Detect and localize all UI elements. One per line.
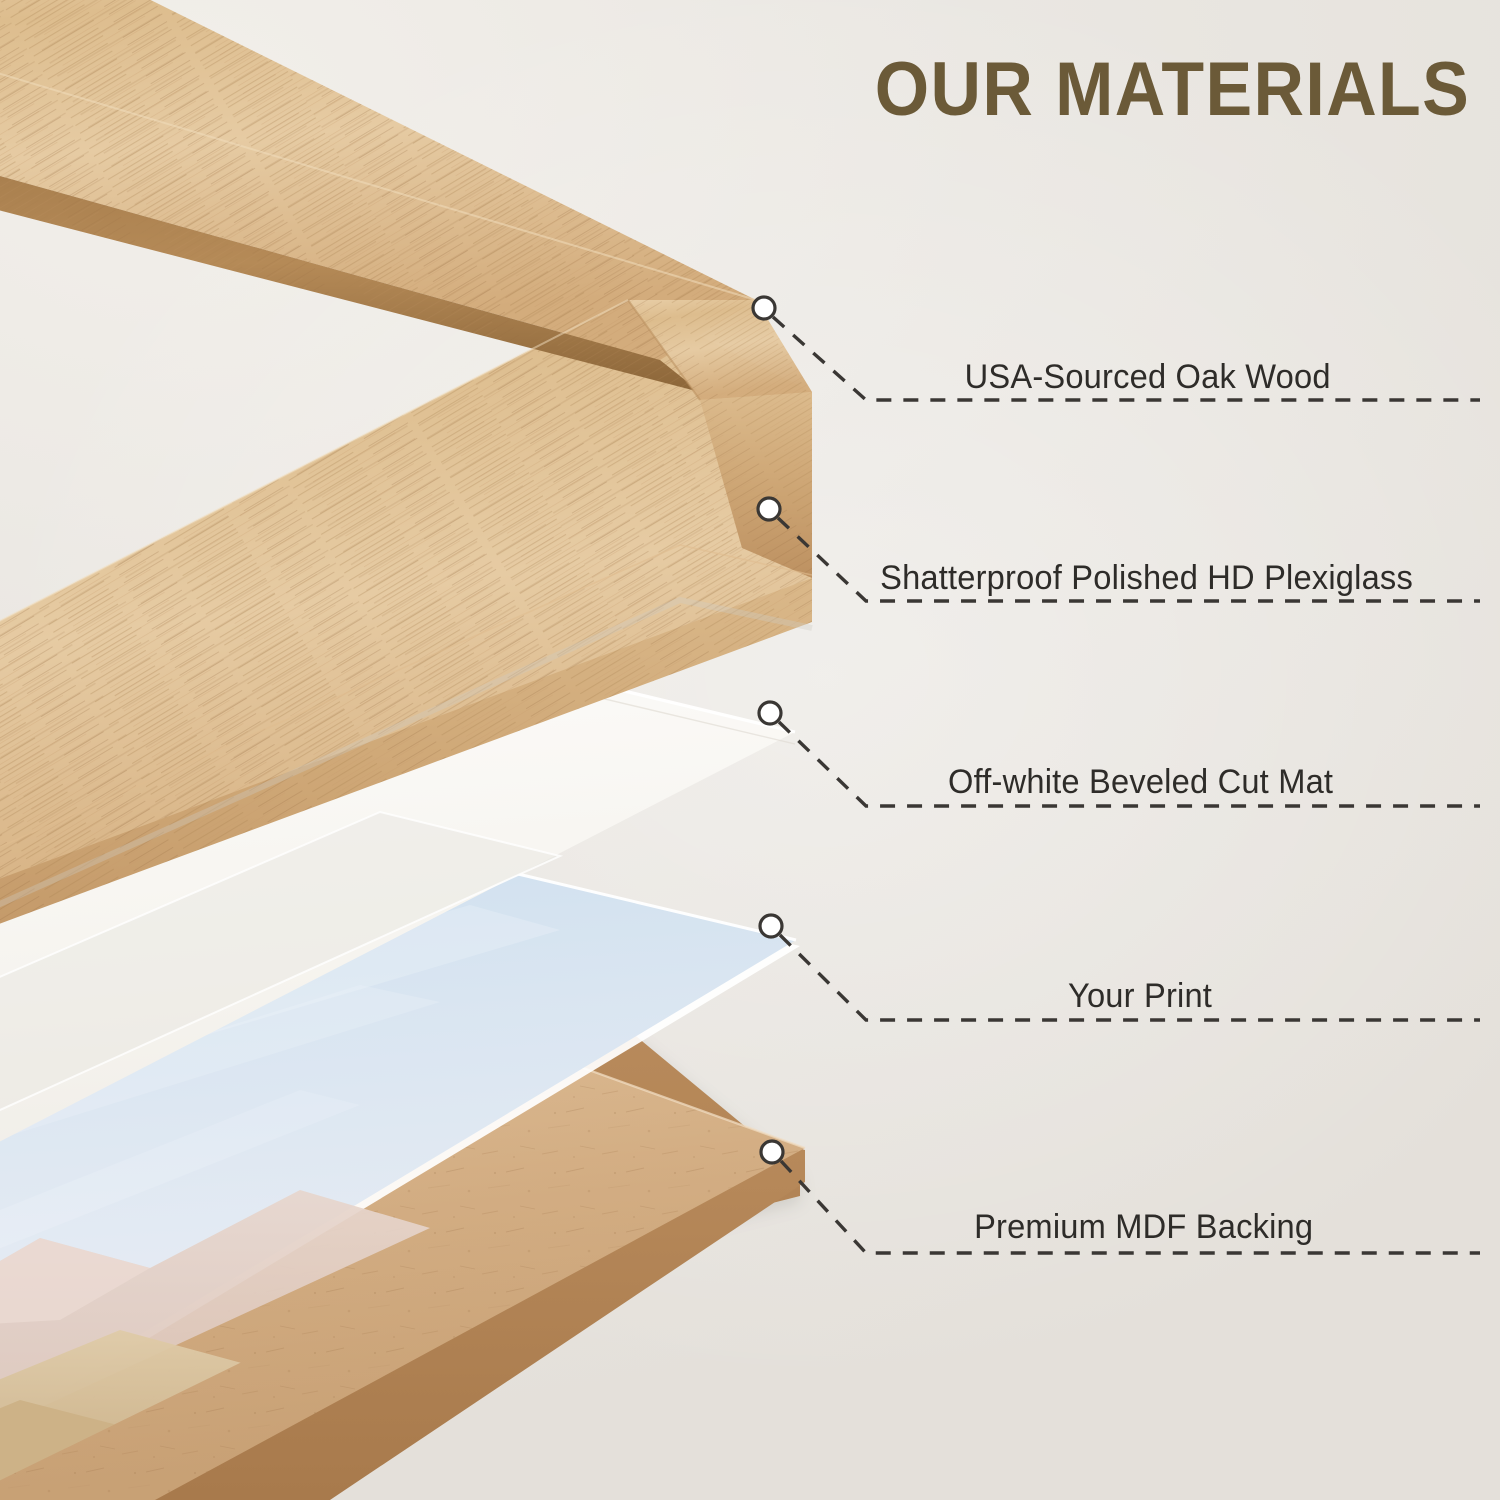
callout-label-print: Your Print — [1068, 977, 1212, 1016]
exploded-frame-illustration — [0, 0, 900, 1500]
callout-label-mdf-backing: Premium MDF Backing — [974, 1208, 1313, 1247]
callout-label-oak-frame: USA-Sourced Oak Wood — [965, 358, 1331, 397]
infographic-canvas: OUR MATERIALS USA-Sourced Oak WoodShatte… — [0, 0, 1500, 1500]
callout-label-plexiglass: Shatterproof Polished HD Plexiglass — [880, 559, 1413, 598]
page-title: OUR MATERIALS — [875, 46, 1470, 133]
callout-label-mat: Off-white Beveled Cut Mat — [948, 763, 1333, 802]
